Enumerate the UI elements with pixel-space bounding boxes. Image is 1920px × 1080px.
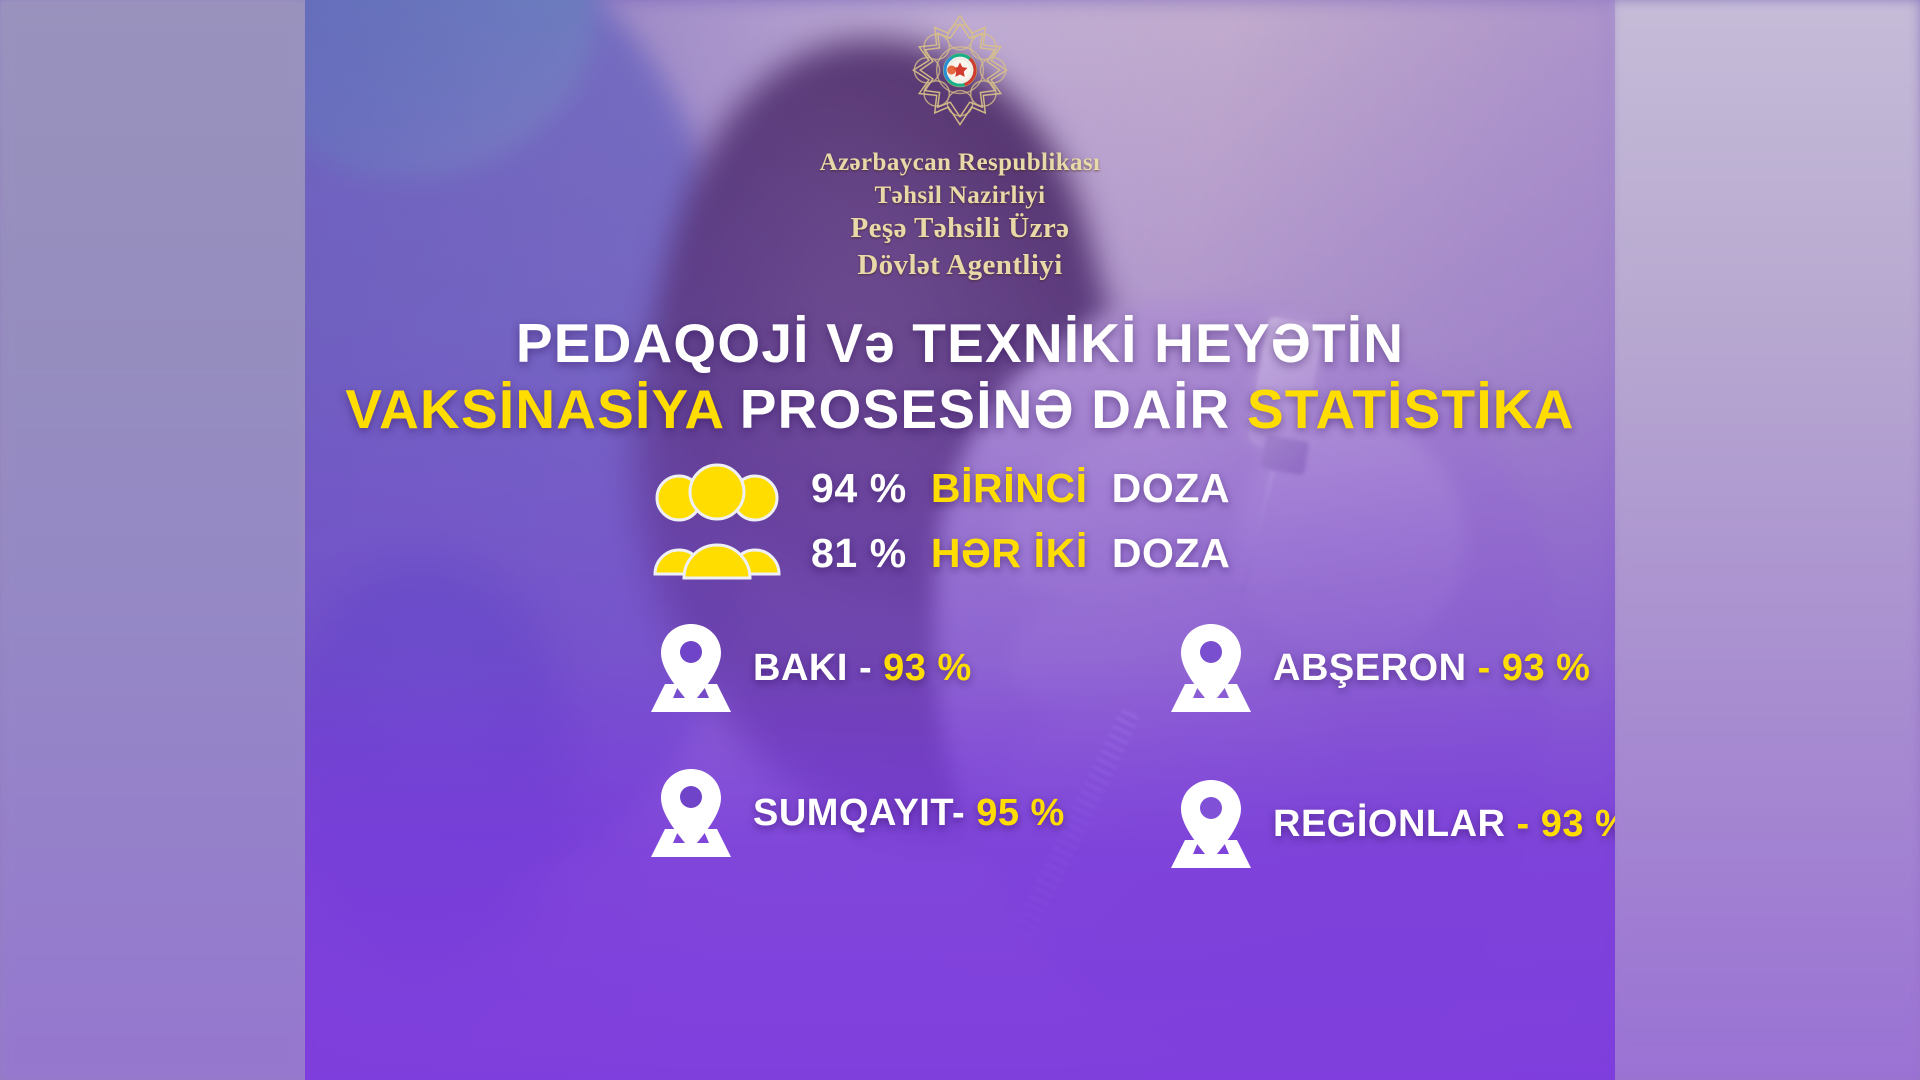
map-pin-icon (1165, 776, 1257, 872)
title-line-1-text: PEDAQOJİ Və TEXNİKİ HEYƏTİN (516, 312, 1404, 374)
location-item-abseron: ABŞERON - 93 % (1165, 620, 1615, 716)
location-name-sumqayit: SUMQAYIT (753, 792, 952, 834)
org-line-2: Təhsil Nazirliyi (305, 181, 1615, 210)
dose-statistics: 94 % BİRİNCİ DOZA 81 % HƏR İKİ DOZA (653, 462, 1230, 580)
location-sep-regionlar: - (1506, 803, 1541, 845)
infographic-poster: Azərbaycan Respublikası Təhsil Nazirliyi… (0, 0, 1920, 1080)
title-line-1: PEDAQOJİ Və TEXNİKİ HEYƏTİN (305, 310, 1615, 376)
map-pin-icon (645, 620, 737, 716)
org-line-4: Dövlət Agentliyi (305, 249, 1615, 282)
location-label-abseron: ABŞERON - 93 % (1273, 647, 1590, 690)
dose-first-suffix: DOZA (1112, 465, 1231, 511)
main-panel: Azərbaycan Respublikası Təhsil Nazirliyi… (305, 0, 1615, 1080)
location-value-baki: 93 % (883, 647, 972, 689)
location-item-regionlar: REGİONLAR - 93 % (1165, 754, 1615, 872)
title-keyword-statistics: STATİSTİKA (1247, 378, 1575, 440)
location-item-sumqayit: SUMQAYIT- 95 % (645, 754, 1165, 872)
location-value-sumqayit: 95 % (976, 792, 1065, 834)
location-name-regionlar: REGİONLAR (1273, 803, 1506, 845)
title-keyword-vaccination: VAKSİNASİYA (345, 378, 723, 440)
location-grid: BAKI - 93 % ABŞERON - 93 % (645, 620, 1615, 872)
location-label-baki: BAKI - 93 % (753, 647, 972, 690)
location-item-baki: BAKI - 93 % (645, 620, 1165, 716)
org-line-1: Azərbaycan Respublikası (305, 148, 1615, 177)
location-label-sumqayit: SUMQAYIT- 95 % (753, 792, 1065, 835)
location-name-baki: BAKI (753, 647, 848, 689)
title-line-2: VAKSİNASİYA PROSESİNƏ DAİR STATİSTİKA (305, 376, 1615, 442)
poster-content: Azərbaycan Respublikası Təhsil Nazirliyi… (305, 0, 1615, 1080)
dose-both-suffix: DOZA (1112, 530, 1231, 576)
dose-both-value: 81 % (811, 530, 907, 576)
location-sep-baki: - (848, 647, 883, 689)
location-name-abseron: ABŞERON (1273, 647, 1467, 689)
map-pin-icon (1165, 620, 1257, 716)
organization-header: Azərbaycan Respublikası Təhsil Nazirliyi… (305, 8, 1615, 282)
dose-rows: 94 % BİRİNCİ DOZA 81 % HƏR İKİ DOZA (811, 465, 1230, 577)
map-pin-icon (645, 765, 737, 861)
azerbaijan-state-emblem-star-icon (892, 8, 1028, 144)
page-title: PEDAQOJİ Və TEXNİKİ HEYƏTİN VAKSİNASİYA … (305, 310, 1615, 442)
org-line-3: Peşə Təhsili Üzrə (305, 212, 1615, 245)
dose-both-label: HƏR İKİ (931, 530, 1088, 576)
location-value-regionlar: 93 % (1541, 803, 1615, 845)
dose-row-both: 81 % HƏR İKİ DOZA (811, 530, 1230, 577)
title-line-2-middle: PROSESİNƏ DAİR (740, 378, 1231, 440)
people-group-icon (653, 462, 781, 580)
location-sep-sumqayit: - (952, 792, 976, 834)
dose-first-label: BİRİNCİ (931, 465, 1088, 511)
location-value-abseron: 93 % (1502, 647, 1591, 689)
regional-statistics: BAKI - 93 % ABŞERON - 93 % (645, 620, 1615, 872)
backdrop-left-band (0, 0, 310, 1080)
location-label-regionlar: REGİONLAR - 93 % (1273, 803, 1615, 846)
location-sep-abseron: - (1467, 647, 1502, 689)
backdrop-right-band (1610, 0, 1920, 1080)
dose-row-first: 94 % BİRİNCİ DOZA (811, 465, 1230, 512)
dose-first-value: 94 % (811, 465, 907, 511)
